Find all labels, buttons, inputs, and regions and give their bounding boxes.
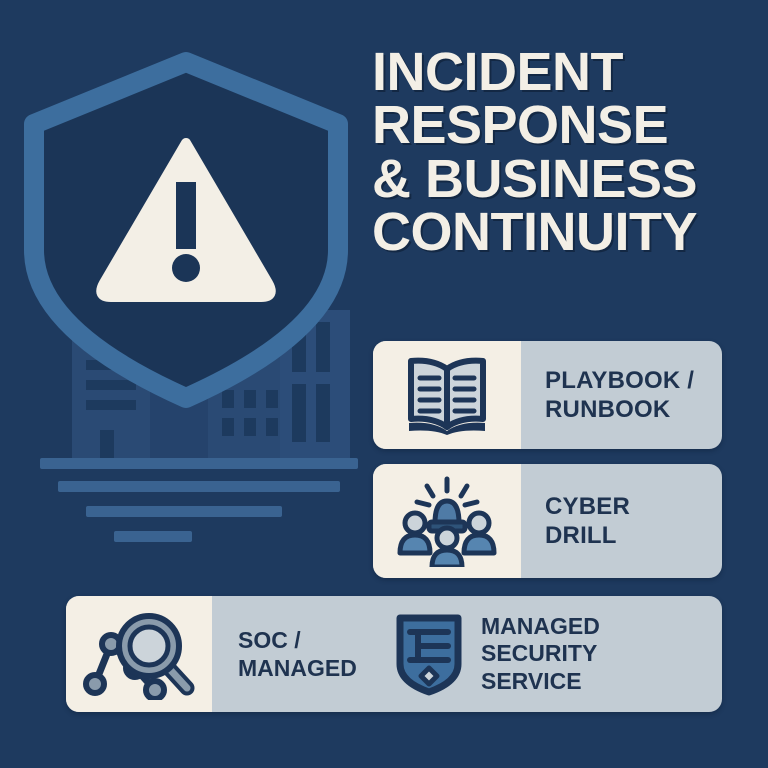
card-playbook-label-line-1: PLAYBOOK /	[545, 366, 722, 395]
title-line-3: & BUSINESS	[372, 153, 744, 206]
card-playbook-label-panel: PLAYBOOK / RUNBOOK	[521, 341, 722, 449]
title-line-4: CONTINUITY	[372, 206, 744, 259]
people-alarm-icon	[397, 475, 497, 567]
page-title: INCIDENT RESPONSE & BUSINESS CONTINUITY	[372, 46, 744, 260]
title-line-1: INCIDENT	[372, 46, 744, 99]
card-soc-secondary-label-panel: MANAGED SECURITY SERVICE	[481, 596, 722, 712]
card-cyberdrill-label-line-1: CYBER	[545, 492, 722, 521]
card-soc-label-line-2: MANAGED	[238, 654, 377, 682]
card-soc-secondary-label-line-3: SERVICE	[481, 668, 722, 696]
card-playbook-icon-panel	[373, 341, 521, 449]
card-soc-secondary-icon-slot	[377, 596, 481, 712]
card-soc-label-panel: SOC / MANAGED	[212, 596, 377, 712]
title-line-2: RESPONSE	[372, 99, 744, 152]
card-soc-secondary-label-line-1: MANAGED	[481, 613, 722, 641]
infographic-canvas: INCIDENT RESPONSE & BUSINESS CONTINUITY	[0, 0, 768, 768]
card-cyberdrill-label-panel: CYBER DRILL	[521, 464, 722, 578]
card-soc-label-line-1: SOC /	[238, 626, 377, 654]
card-soc-managed-security-service[interactable]: SOC / MANAGED MANAGED SECURITY SERVICE	[66, 596, 722, 712]
baseline-bars	[40, 458, 358, 542]
card-soc-icon-panel	[66, 596, 212, 712]
open-book-icon	[401, 353, 493, 437]
server-shield-icon	[392, 610, 466, 698]
magnifier-analytics-icon	[81, 608, 197, 700]
card-cyberdrill-icon-panel	[373, 464, 521, 578]
shield-illustration	[0, 0, 372, 600]
card-soc-secondary-label-line-2: SECURITY	[481, 640, 722, 668]
card-cyber-drill[interactable]: CYBER DRILL	[373, 464, 722, 578]
card-playbook-label-line-2: RUNBOOK	[545, 395, 722, 424]
card-playbook-runbook[interactable]: PLAYBOOK / RUNBOOK	[373, 341, 722, 449]
card-cyberdrill-label-line-2: DRILL	[545, 521, 722, 550]
